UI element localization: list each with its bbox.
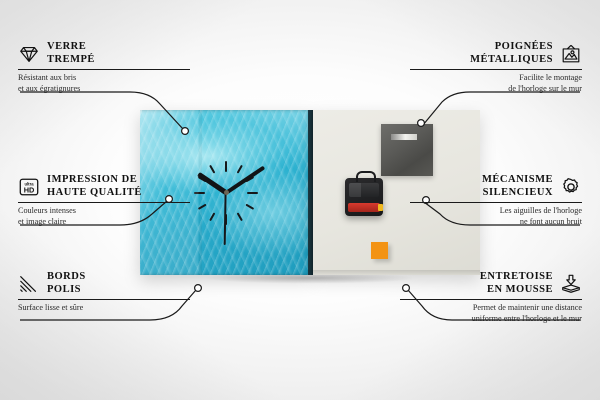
callout-title: VERRETREMPÉ [47, 41, 95, 66]
callout-poignees-metalliques[interactable]: POIGNÉESMÉTALLIQUES Facilite le montaged… [410, 41, 582, 94]
hanger-slot [391, 134, 417, 140]
metal-hanger-plate [381, 124, 433, 176]
tick-5 [209, 164, 243, 220]
callout-title: POIGNÉESMÉTALLIQUES [470, 41, 553, 66]
svg-text:HD: HD [24, 185, 35, 194]
callout-rule [18, 202, 190, 203]
tick-6 [225, 161, 227, 225]
second-hand [224, 192, 227, 244]
quartz-movement [345, 178, 383, 216]
callout-header: VERRETREMPÉ [18, 41, 190, 66]
callout-title: ENTRETOISEEN MOUSSE [480, 271, 553, 296]
tick-9 [194, 192, 258, 194]
hour-hand [196, 171, 227, 194]
callout-rule [18, 69, 190, 70]
callout-verre-trempe[interactable]: VERRETREMPÉ Résistant aux briset aux égr… [18, 41, 190, 94]
tick-1 [209, 164, 243, 220]
foam-spacer-icon [560, 273, 582, 295]
callout-header: ENTRETOISEEN MOUSSE [400, 271, 582, 296]
callout-desc: Facilite le montagede l'horloge sur le m… [410, 73, 582, 94]
callout-header: ultra HD IMPRESSION DEHAUTE QUALITÉ [18, 174, 190, 199]
callout-rule [410, 202, 582, 203]
tick-3 [194, 192, 258, 194]
callout-desc: Couleurs intenseset image claire [18, 206, 190, 227]
tick-7 [209, 164, 243, 220]
callout-header: BORDSPOLIS [18, 271, 190, 296]
gear-icon [560, 176, 582, 198]
movement-hanger-loop [356, 171, 376, 182]
callout-bords-polis[interactable]: BORDSPOLIS Surface lisse et sûre [18, 271, 190, 314]
callout-header: POIGNÉESMÉTALLIQUES [410, 41, 582, 66]
tick-11 [209, 164, 243, 220]
callout-desc: Permet de maintenir une distanceuniforme… [400, 303, 582, 324]
diamond-icon [18, 43, 40, 65]
callout-desc: Surface lisse et sûre [18, 303, 190, 314]
hanging-frame-icon [560, 43, 582, 65]
minute-hand [225, 165, 265, 194]
callout-header: MÉCANISMESILENCIEUX [410, 174, 582, 199]
movement-detail [349, 183, 379, 197]
ultra-hd-icon: ultra HD [18, 176, 40, 198]
tick-12 [225, 161, 227, 225]
battery [348, 203, 380, 212]
callout-title: MÉCANISMESILENCIEUX [482, 174, 553, 199]
infographic-canvas: VERRETREMPÉ Résistant aux briset aux égr… [0, 0, 600, 400]
callout-desc: Résistant aux briset aux égratignures [18, 73, 190, 94]
hand-cap [224, 190, 229, 195]
tick-2 [198, 176, 254, 210]
callout-desc: Les aiguilles de l'horlogene font aucun … [410, 206, 582, 227]
callout-mecanisme-silencieux[interactable]: MÉCANISMESILENCIEUX Les aiguilles de l'h… [410, 174, 582, 227]
callout-rule [18, 299, 190, 300]
tick-8 [198, 176, 254, 210]
callout-title: BORDSPOLIS [47, 271, 86, 296]
polished-edge-icon [18, 273, 40, 295]
callout-entretoise-en-mousse[interactable]: ENTRETOISEEN MOUSSE Permet de maintenir … [400, 271, 582, 324]
callout-title: IMPRESSION DEHAUTE QUALITÉ [47, 174, 142, 199]
tick-10 [198, 176, 254, 210]
foam-spacer [371, 242, 388, 259]
tick-4 [198, 176, 254, 210]
callout-impression-haute-qualite[interactable]: ultra HD IMPRESSION DEHAUTE QUALITÉ Coul… [18, 174, 190, 227]
callout-rule [410, 69, 582, 70]
callout-rule [400, 299, 582, 300]
